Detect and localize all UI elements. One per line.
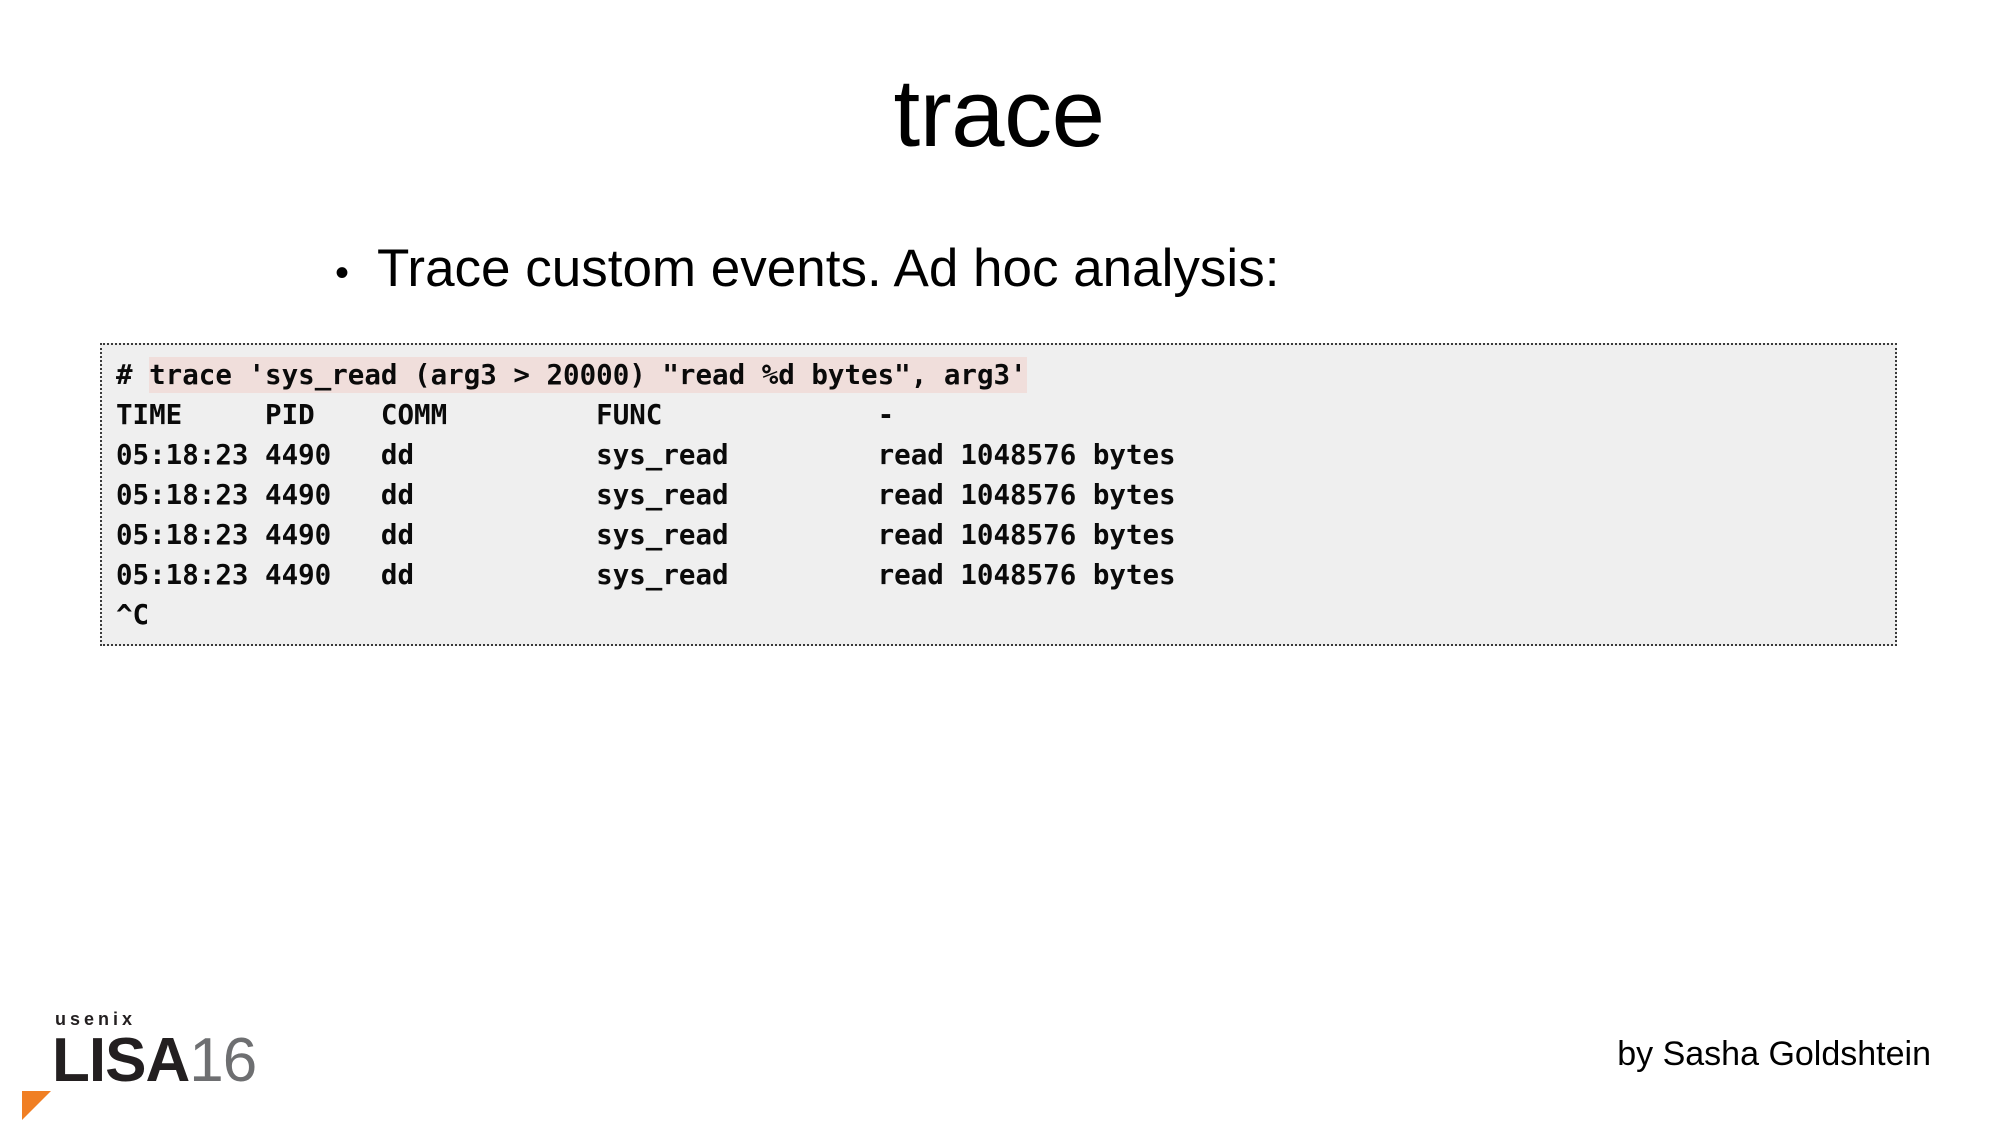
table-row: 05:18:23 4490 dd sys_read read 1048576 b… [116,475,1895,515]
table-row: 05:18:23 4490 dd sys_read read 1048576 b… [116,555,1895,595]
bullet-marker-icon: • [335,242,349,304]
bullet-item-label: Trace custom events. Ad hoc analysis: [377,238,1279,300]
table-row: 05:18:23 4490 dd sys_read read 1048576 b… [116,515,1895,555]
bullet-list-item: • Trace custom events. Ad hoc analysis: [335,238,1279,304]
terminal-text: # trace 'sys_read (arg3 > 20000) "read %… [116,355,1895,635]
terminal-command-line: # trace 'sys_read (arg3 > 20000) "read %… [116,355,1895,395]
command-highlight: trace 'sys_read (arg3 > 20000) "read %d … [149,357,1027,393]
presentation-slide: trace • Trace custom events. Ad hoc anal… [0,0,1998,1125]
slide-title: trace [0,60,1998,168]
table-row: 05:18:23 4490 dd sys_read read 1048576 b… [116,435,1895,475]
shell-prompt: # [116,359,149,391]
lisa-wordmark: LISA16 [52,1027,256,1095]
table-header-row: TIME PID COMM FUNC - [116,395,1895,435]
interrupt-signal: ^C [116,595,1895,635]
author-byline: by Sasha Goldshtein [1617,1034,1931,1074]
lisa-text: LISA [52,1026,189,1095]
terminal-output-block: # trace 'sys_read (arg3 > 20000) "read %… [100,343,1897,646]
lisa-year: 16 [189,1026,256,1095]
logo-triangle-icon [22,1091,51,1120]
usenix-lisa-logo: usenix LISA16 [22,1009,272,1114]
